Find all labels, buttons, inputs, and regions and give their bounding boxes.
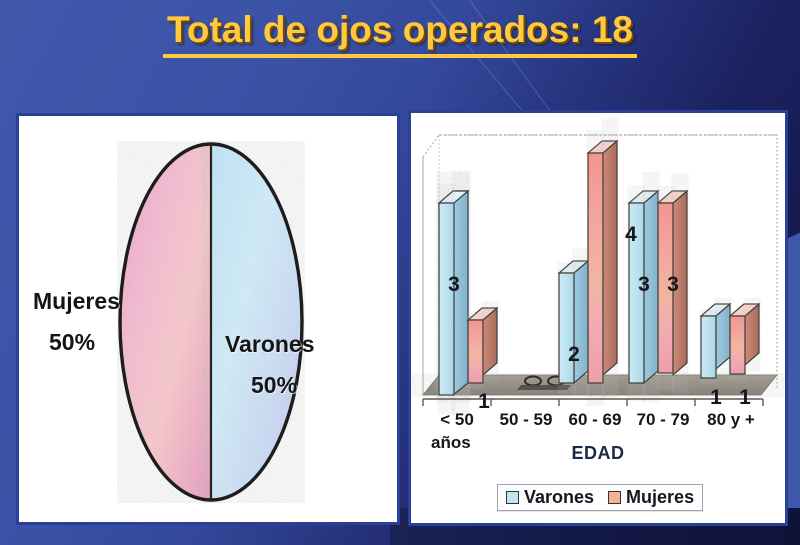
bar-mujeres-lt50 (468, 308, 497, 383)
value-label-mujeres-70-79: 3 (660, 273, 686, 297)
bar-chart-panel: 3 1 2 4 3 3 1 1 < 50 años 50 - 59 60 - 6… (408, 110, 788, 526)
legend-swatch-mujeres (608, 491, 621, 504)
bar-mujeres-80plus (730, 304, 759, 374)
value-label-varones-60-69: 2 (561, 343, 587, 367)
bar-mujeres-60-69 (588, 141, 617, 383)
pie-label-mujeres: Mujeres (33, 288, 120, 315)
bar-chart-area: 3 1 2 4 3 3 1 1 < 50 años 50 - 59 60 - 6… (411, 113, 785, 523)
category-label-80plus: 80 y + (695, 410, 767, 430)
value-label-varones-70-79: 3 (631, 273, 657, 297)
pie-slice-mujeres (120, 144, 211, 500)
bar-varones-80plus (701, 304, 730, 378)
category-label-60-69: 60 - 69 (560, 410, 630, 430)
category-label-lt50: < 50 (424, 410, 490, 430)
legend-label-mujeres: Mujeres (626, 488, 694, 506)
pie-chart-area: Mujeres 50% Varones 50% (19, 116, 397, 522)
pie-slice-varones (211, 144, 302, 500)
pie-value-varones: 50% (251, 372, 297, 399)
chart-legend: Varones Mujeres (497, 484, 703, 511)
value-label-varones-80plus: 1 (703, 386, 729, 410)
value-label-mujeres-80plus: 1 (732, 386, 758, 410)
legend-item-varones[interactable]: Varones (506, 488, 594, 506)
axis-title-edad: EDAD (411, 443, 785, 464)
legend-item-mujeres[interactable]: Mujeres (608, 488, 694, 506)
pie-value-mujeres: 50% (49, 329, 95, 356)
slide-title: Total de ojos operados: 18 (163, 8, 637, 58)
legend-swatch-varones (506, 491, 519, 504)
pie-chart-panel: Mujeres 50% Varones 50% (16, 113, 400, 525)
value-label-mujeres-60-69: 4 (618, 223, 644, 247)
category-label-70-79: 70 - 79 (628, 410, 698, 430)
pie-label-varones: Varones (225, 331, 315, 358)
pie-chart-svg (117, 141, 305, 503)
slide-title-container: Total de ojos operados: 18 (0, 8, 800, 58)
category-label-50-59: 50 - 59 (491, 410, 561, 430)
value-label-varones-lt50: 3 (441, 273, 467, 297)
legend-label-varones: Varones (524, 488, 594, 506)
pie-chart-figure (117, 141, 305, 503)
slide-canvas: Total de ojos operados: 18 (0, 0, 800, 545)
